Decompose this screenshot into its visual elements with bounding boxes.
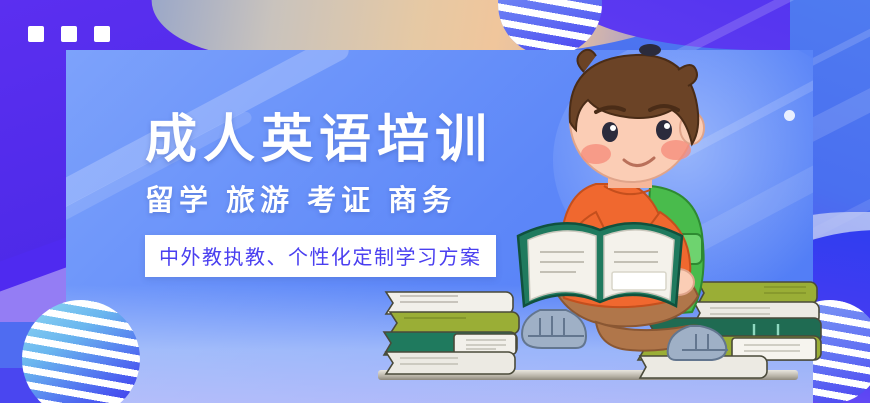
page-title: 成人英语培训 [145, 112, 496, 168]
subtitle: 留学 旅游 考证 商务 [145, 177, 496, 219]
window-dot-icon-2 [61, 26, 77, 42]
tagline-text: 中外教执教、个性化定制学习方案 [159, 247, 482, 269]
banner-root: 成人英语培训 留学 旅游 考证 商务 中外教执教、个性化定制学习方案 [0, 0, 870, 403]
boy-reading-icon [500, 36, 760, 396]
text-block: 成人英语培训 留学 旅游 考证 商务 中外教执教、个性化定制学习方案 [145, 112, 496, 277]
tagline-bar: 中外教执教、个性化定制学习方案 [145, 235, 496, 277]
window-dots [28, 26, 110, 42]
window-dot-icon-3 [94, 26, 110, 42]
boy-reading-illustration [500, 36, 760, 396]
window-dot-icon-1 [28, 26, 44, 42]
open-book-icon [518, 223, 682, 306]
striped-sphere-left-icon [22, 300, 140, 403]
panel-streak-dot [784, 110, 795, 121]
